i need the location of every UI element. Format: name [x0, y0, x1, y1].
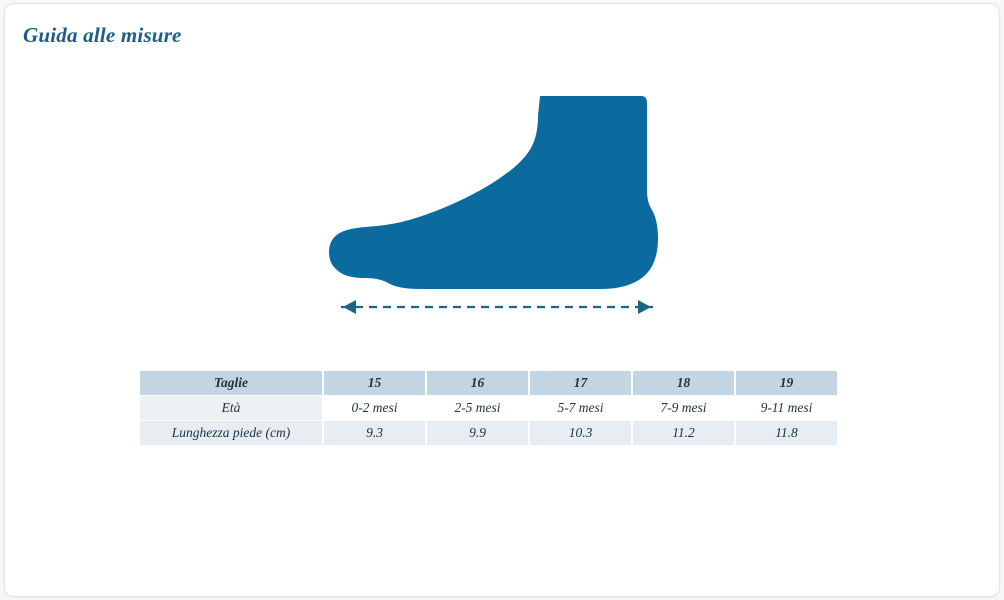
foot-length-dimension-arrow — [341, 300, 653, 314]
foot-illustration — [325, 84, 670, 319]
cell-age-15: 0-2 mesi — [324, 396, 425, 420]
cell-age-17: 5-7 mesi — [530, 396, 631, 420]
size-table: Taglie 15 16 17 18 19 Età 0-2 mesi 2-5 m… — [138, 370, 839, 446]
cell-length-16: 9.9 — [427, 421, 528, 445]
table-header-size-17: 17 — [530, 371, 631, 395]
cell-length-15: 9.3 — [324, 421, 425, 445]
row-label-age: Età — [140, 396, 322, 420]
cell-age-16: 2-5 mesi — [427, 396, 528, 420]
table-header-taglie: Taglie — [140, 371, 322, 395]
row-label-foot-length: Lunghezza piede (cm) — [140, 421, 322, 445]
size-guide-card: Guida alle misure Taglie 15 — [4, 3, 1000, 597]
page-title: Guida alle misure — [23, 23, 182, 48]
cell-length-18: 11.2 — [633, 421, 734, 445]
table-row-age: Età 0-2 mesi 2-5 mesi 5-7 mesi 7-9 mesi … — [140, 396, 837, 420]
table-header-row: Taglie 15 16 17 18 19 — [140, 371, 837, 395]
cell-length-19: 11.8 — [736, 421, 837, 445]
table-row-foot-length: Lunghezza piede (cm) 9.3 9.9 10.3 11.2 1… — [140, 421, 837, 445]
foot-silhouette-shape — [329, 96, 658, 289]
table-header-size-19: 19 — [736, 371, 837, 395]
cell-age-19: 9-11 mesi — [736, 396, 837, 420]
table-header-size-16: 16 — [427, 371, 528, 395]
cell-age-18: 7-9 mesi — [633, 396, 734, 420]
table-header-size-15: 15 — [324, 371, 425, 395]
table-header-size-18: 18 — [633, 371, 734, 395]
cell-length-17: 10.3 — [530, 421, 631, 445]
